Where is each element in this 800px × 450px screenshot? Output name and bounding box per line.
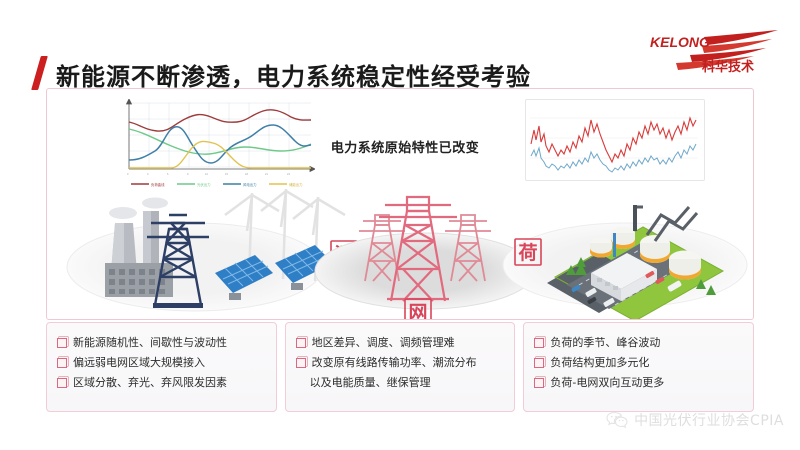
list-item-label: 负荷结构更加多元化 bbox=[550, 355, 649, 370]
svg-text:24: 24 bbox=[287, 172, 290, 176]
watermark: 中国光伏行业协会CPIA bbox=[606, 410, 784, 430]
page-title: 新能源不断渗透，电力系统稳定性经受考验 bbox=[56, 57, 531, 92]
chart-volatility bbox=[525, 99, 705, 181]
list-item-label: 改变原有线路传输功率、潮流分布 bbox=[312, 355, 477, 370]
wechat-icon bbox=[606, 411, 628, 429]
list-item: 改变原有线路传输功率、潮流分布 bbox=[296, 355, 505, 370]
cube-bullet-icon bbox=[534, 338, 544, 348]
power-system-illustration: 源 bbox=[47, 185, 753, 319]
title-accent-slash bbox=[31, 56, 48, 90]
svg-text:18: 18 bbox=[245, 172, 248, 176]
svg-text:0: 0 bbox=[127, 172, 129, 176]
logo-latin-name: KELONG bbox=[650, 34, 710, 50]
label-grid-text: 网 bbox=[408, 302, 427, 319]
list-item-label: 偏远弱电网区域大规模接入 bbox=[73, 355, 205, 370]
box-source-issues: 新能源随机性、间歇性与波动性 偏远弱电网区域大规模接入 区域分散、弃光、弃风限发… bbox=[46, 322, 277, 412]
illus-grid-group: 网 bbox=[315, 197, 535, 319]
box-grid-issues: 地区差异、调度、调频管理难 改变原有线路传输功率、潮流分布 以及电能质量、继保管… bbox=[285, 322, 516, 412]
box-load-issues: 负荷的季节、峰谷波动 负荷结构更加多元化 负荷-电网双向互动更多 bbox=[523, 322, 754, 412]
svg-text:6: 6 bbox=[167, 172, 169, 176]
illus-source-group: 源 bbox=[67, 189, 357, 311]
cube-bullet-icon bbox=[534, 378, 544, 388]
chart-series-load bbox=[129, 110, 311, 131]
issue-boxes: 新能源随机性、间歇性与波动性 偏远弱电网区域大规模接入 区域分散、弃光、弃风限发… bbox=[46, 322, 754, 412]
list-item-continuation: 以及电能质量、继保管理 bbox=[310, 375, 505, 390]
main-content-panel: 03 69 1215 1821 24 负荷曲线 光伏出力 风电出力 储能出力 bbox=[46, 88, 754, 320]
chart-load-profile: 03 69 1215 1821 24 负荷曲线 光伏出力 风电出力 储能出力 bbox=[115, 99, 315, 191]
list-item-label: 区域分散、弃光、弃风限发因素 bbox=[73, 375, 227, 390]
svg-text:3: 3 bbox=[147, 172, 149, 176]
cube-bullet-icon bbox=[57, 338, 67, 348]
illus-load-group: 荷 bbox=[503, 205, 747, 319]
chart-x-ticks: 03 69 1215 1821 24 bbox=[127, 172, 290, 176]
list-item: 负荷的季节、峰谷波动 bbox=[534, 335, 743, 350]
svg-text:15: 15 bbox=[225, 172, 228, 176]
chart-series-frequency bbox=[531, 118, 696, 162]
list-item: 负荷-电网双向互动更多 bbox=[534, 375, 743, 390]
list-item-label: 地区差异、调度、调频管理难 bbox=[312, 335, 455, 350]
cube-bullet-icon bbox=[534, 358, 544, 368]
label-load-text: 荷 bbox=[518, 241, 537, 264]
list-item: 地区差异、调度、调频管理难 bbox=[296, 335, 505, 350]
list-item-label: 新能源随机性、间歇性与波动性 bbox=[73, 335, 227, 350]
list-item: 新能源随机性、间歇性与波动性 bbox=[57, 335, 266, 350]
kelong-logo: KELONG 科华技术 bbox=[646, 27, 786, 79]
cube-bullet-icon bbox=[296, 358, 306, 368]
svg-text:9: 9 bbox=[187, 172, 189, 176]
cube-bullet-icon bbox=[296, 338, 306, 348]
logo-chinese-name: 科华技术 bbox=[702, 59, 754, 75]
center-caption: 电力系统原始特性已改变 bbox=[315, 137, 495, 156]
label-grid-badge: 网 bbox=[405, 299, 431, 319]
logo-mark-icon: KELONG 科华技术 bbox=[646, 27, 786, 79]
list-item: 偏远弱电网区域大规模接入 bbox=[57, 355, 266, 370]
slide-root: 新能源不断渗透，电力系统稳定性经受考验 KELONG 科华技术 bbox=[0, 0, 800, 450]
chart-series-storage bbox=[129, 141, 311, 168]
cube-bullet-icon bbox=[57, 358, 67, 368]
svg-text:21: 21 bbox=[265, 172, 268, 176]
list-item: 负荷结构更加多元化 bbox=[534, 355, 743, 370]
list-item: 区域分散、弃光、弃风限发因素 bbox=[57, 375, 266, 390]
watermark-label: 中国光伏行业协会CPIA bbox=[634, 410, 784, 430]
cube-bullet-icon bbox=[57, 378, 67, 388]
svg-text:12: 12 bbox=[205, 172, 208, 176]
label-load-badge: 荷 bbox=[515, 239, 541, 265]
list-item-label: 负荷的季节、峰谷波动 bbox=[550, 335, 660, 350]
list-item-label: 负荷-电网双向互动更多 bbox=[550, 375, 664, 390]
